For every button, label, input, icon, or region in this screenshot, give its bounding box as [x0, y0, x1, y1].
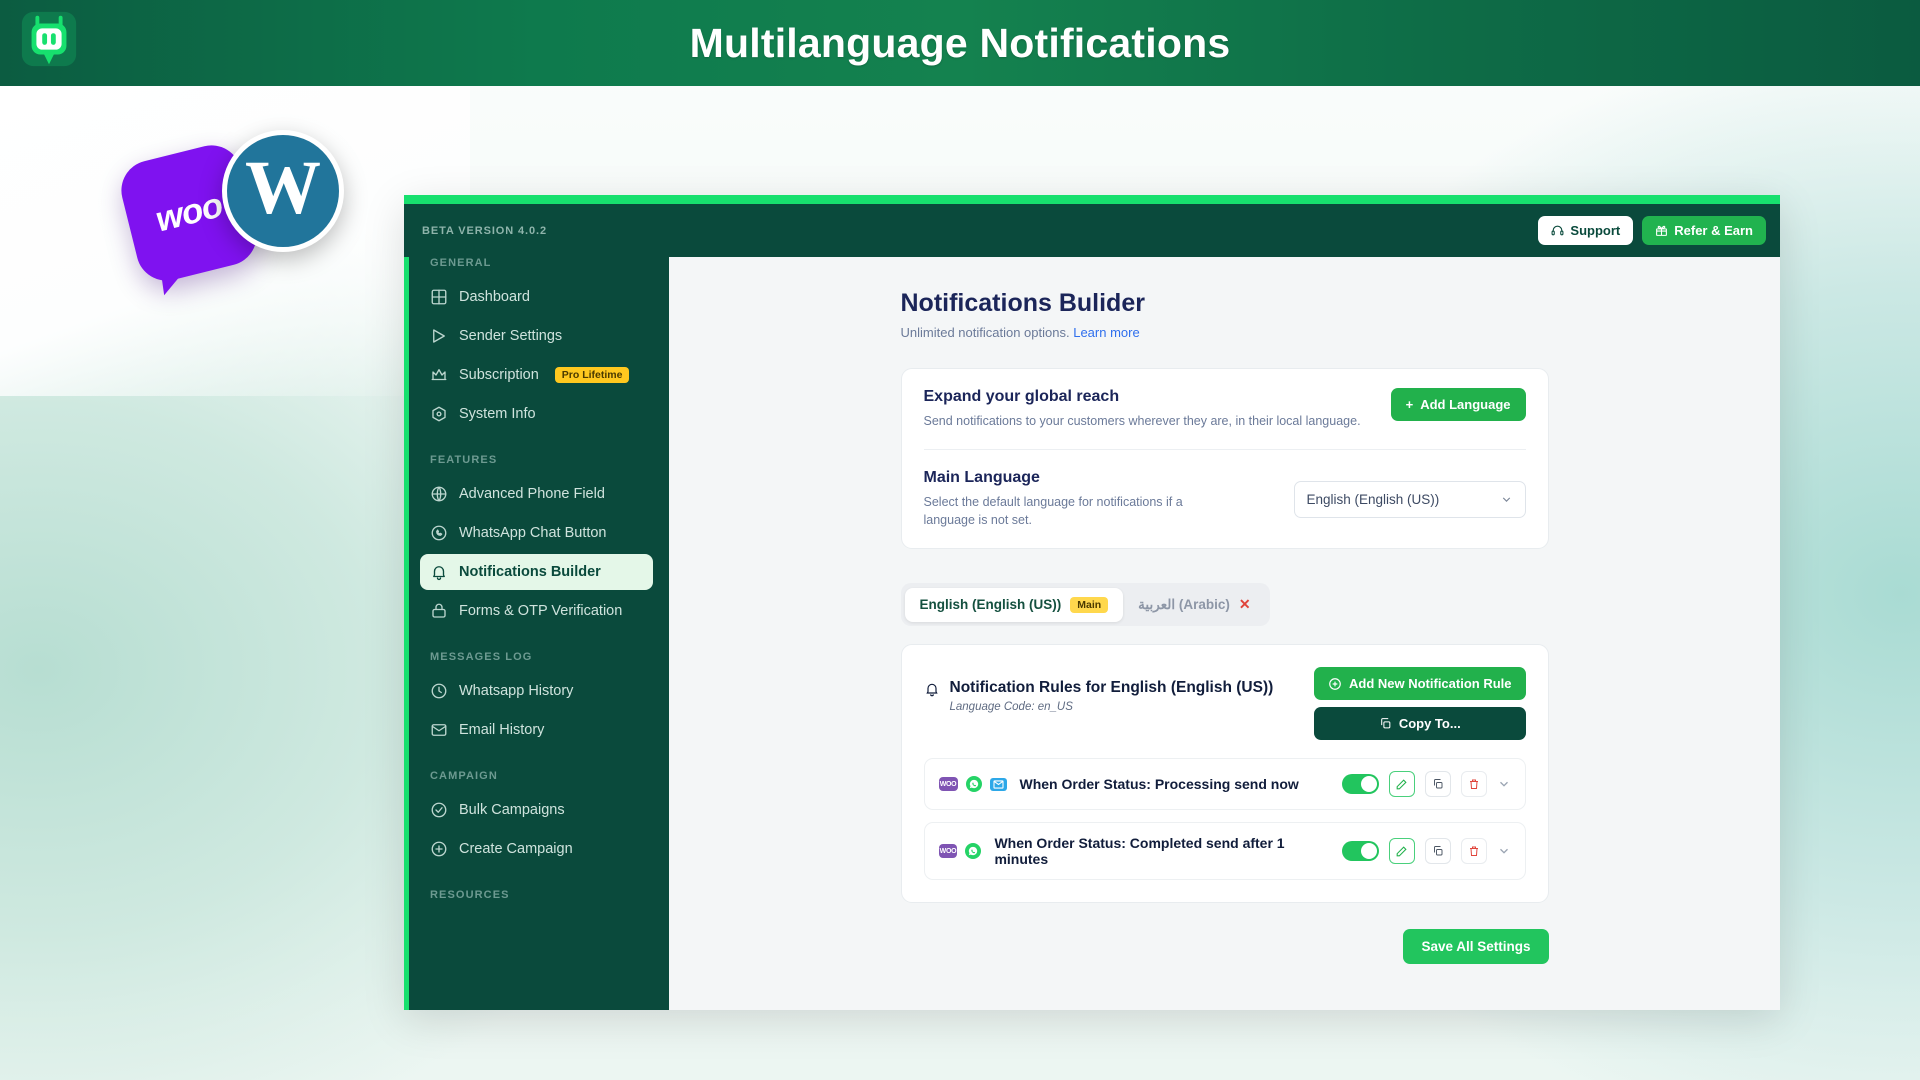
- app-window: BETA VERSION 4.0.2 Support Refer & Earn: [404, 195, 1780, 1010]
- chevron-down-icon: [1500, 493, 1513, 506]
- topbar-actions: Support Refer & Earn: [1538, 216, 1766, 245]
- main-language-heading: Main Language: [924, 469, 1224, 487]
- support-button-label: Support: [1570, 223, 1620, 238]
- global-reach-description: Send notifications to your customers whe…: [924, 412, 1361, 430]
- sidebar-item-label: Advanced Phone Field: [459, 486, 605, 502]
- sidebar: Setup Wizard GENERALDashboardSender Sett…: [404, 257, 669, 1010]
- sidebar-item-label: Dashboard: [459, 289, 530, 305]
- sidebar-item-label: Sender Settings: [459, 328, 562, 344]
- wordpress-logo-text: W: [245, 150, 321, 226]
- clock-icon: [430, 682, 448, 700]
- main-language-row: Main Language Select the default languag…: [902, 450, 1548, 548]
- rules-title: Notification Rules for English (English …: [950, 679, 1274, 697]
- woocommerce-logo-text: woo: [152, 185, 227, 240]
- global-reach-header: Expand your global reach Send notificati…: [902, 369, 1548, 449]
- main-language-select[interactable]: English (English (US)): [1294, 481, 1526, 518]
- global-reach-card: Expand your global reach Send notificati…: [901, 368, 1549, 549]
- save-section: Save All Settings: [901, 929, 1549, 964]
- sidebar-item-dashboard[interactable]: Dashboard: [420, 279, 653, 315]
- headset-icon: [1551, 224, 1564, 237]
- sidebar-section-label: RESOURCES: [430, 889, 653, 901]
- notification-rule-row[interactable]: WOOWhen Order Status: Completed send aft…: [924, 822, 1526, 880]
- expand-rule-button[interactable]: [1497, 844, 1511, 858]
- bell-icon: [430, 563, 448, 581]
- gift-icon: [1655, 224, 1668, 237]
- trash-icon: [1468, 778, 1480, 790]
- sidebar-section-label: MESSAGES LOG: [430, 651, 653, 663]
- notification-rule-row[interactable]: WOOWhen Order Status: Processing send no…: [924, 758, 1526, 810]
- main-language-selected-value: English (English (US)): [1307, 492, 1440, 507]
- sidebar-item-badge: Pro Lifetime: [555, 367, 630, 383]
- plus-circle-icon: [430, 840, 448, 858]
- envelope-icon: [430, 721, 448, 739]
- rules-actions: Add New Notification Rule Copy To...: [1314, 667, 1526, 740]
- woocommerce-channel-icon: WOO: [939, 777, 958, 791]
- email-channel-icon: [990, 778, 1007, 791]
- language-tab-label: العربية (Arabic): [1138, 597, 1230, 613]
- support-button[interactable]: Support: [1538, 216, 1633, 245]
- sidebar-item-label: Forms & OTP Verification: [459, 603, 622, 619]
- check-circle-icon: [430, 801, 448, 819]
- rule-actions: [1342, 838, 1511, 864]
- sidebar-item-system-info[interactable]: System Info: [420, 396, 653, 432]
- language-tabs: English (English (US))Mainالعربية (Arabi…: [901, 583, 1270, 626]
- whatsapp-channel-icon: [965, 843, 981, 859]
- wordpress-logo: W: [222, 130, 344, 252]
- rules-header: Notification Rules for English (English …: [902, 645, 1548, 746]
- sidebar-section-label: FEATURES: [430, 454, 653, 466]
- pencil-icon: [1395, 778, 1408, 791]
- sidebar-nav: GENERALDashboardSender SettingsSubscript…: [420, 257, 653, 901]
- rules-language-code: Language Code: en_US: [950, 701, 1274, 713]
- sidebar-item-label: Whatsapp History: [459, 683, 573, 699]
- pencil-icon: [1395, 845, 1408, 858]
- delete-rule-button[interactable]: [1461, 838, 1487, 864]
- chevron-down-icon: [1497, 844, 1511, 858]
- plus-circle-icon: [1328, 677, 1342, 691]
- rule-label: When Order Status: Completed send after …: [994, 835, 1341, 867]
- edit-rule-button[interactable]: [1389, 838, 1415, 864]
- sidebar-item-create-campaign[interactable]: Create Campaign: [420, 831, 653, 867]
- woocommerce-channel-icon: WOO: [939, 844, 958, 858]
- sidebar-item-whatsapp-history[interactable]: Whatsapp History: [420, 673, 653, 709]
- robot-logo-icon: [18, 8, 80, 70]
- copy-icon: [1379, 717, 1392, 730]
- add-language-button[interactable]: + Add Language: [1391, 388, 1526, 421]
- main-language-description: Select the default language for notifica…: [924, 493, 1224, 529]
- info-hex-icon: [430, 405, 448, 423]
- add-notification-rule-button[interactable]: Add New Notification Rule: [1314, 667, 1526, 700]
- page-root: Multilanguage Notifications BETA VERSION…: [0, 0, 1920, 1080]
- sidebar-section-label: CAMPAIGN: [430, 770, 653, 782]
- chevron-down-icon: [1497, 777, 1511, 791]
- sidebar-item-label: Create Campaign: [459, 841, 573, 857]
- copy-icon: [1432, 778, 1444, 790]
- expand-rule-button[interactable]: [1497, 777, 1511, 791]
- duplicate-rule-button[interactable]: [1425, 838, 1451, 864]
- language-tab-label: English (English (US)): [920, 597, 1062, 612]
- beta-version-label: BETA VERSION 4.0.2: [422, 225, 547, 237]
- sidebar-section-label: GENERAL: [430, 257, 653, 269]
- whatsapp-icon: [430, 524, 448, 542]
- window-accent-bar: [404, 195, 1780, 204]
- language-tab-english[interactable]: English (English (US))Main: [905, 588, 1124, 622]
- plus-icon: +: [1406, 397, 1414, 412]
- edit-rule-button[interactable]: [1389, 771, 1415, 797]
- sidebar-item-bulk-campaigns[interactable]: Bulk Campaigns: [420, 792, 653, 828]
- add-notification-rule-label: Add New Notification Rule: [1349, 676, 1512, 691]
- page-subtitle-text: Unlimited notification options.: [901, 325, 1070, 340]
- bell-icon: [924, 681, 940, 697]
- rule-enabled-toggle[interactable]: [1342, 774, 1379, 794]
- copy-to-button[interactable]: Copy To...: [1314, 707, 1526, 740]
- sidebar-item-label: Subscription: [459, 367, 539, 383]
- crown-icon: [430, 366, 448, 384]
- banner-title: Multilanguage Notifications: [690, 20, 1231, 67]
- lock-icon: [430, 602, 448, 620]
- refer-earn-button-label: Refer & Earn: [1674, 223, 1753, 238]
- rule-left: WOOWhen Order Status: Processing send no…: [939, 776, 1299, 792]
- send-icon: [430, 327, 448, 345]
- sidebar-item-sender-settings[interactable]: Sender Settings: [420, 318, 653, 354]
- sidebar-item-label: Bulk Campaigns: [459, 802, 565, 818]
- rule-left: WOOWhen Order Status: Completed send aft…: [939, 835, 1342, 867]
- rule-label: When Order Status: Processing send now: [1020, 776, 1299, 792]
- main-content: Notifications Bulider Unlimited notifica…: [669, 257, 1780, 1010]
- refer-earn-button[interactable]: Refer & Earn: [1642, 216, 1766, 245]
- sidebar-item-whatsapp-chat-button[interactable]: WhatsApp Chat Button: [420, 515, 653, 551]
- sidebar-item-label: System Info: [459, 406, 536, 422]
- global-reach-heading: Expand your global reach: [924, 388, 1361, 406]
- rule-enabled-toggle[interactable]: [1342, 841, 1379, 861]
- sidebar-item-label: WhatsApp Chat Button: [459, 525, 607, 541]
- page-title: Notifications Bulider: [901, 289, 1549, 318]
- sidebar-item-label: Email History: [459, 722, 544, 738]
- duplicate-rule-button[interactable]: [1425, 771, 1451, 797]
- notification-rule-list: WOOWhen Order Status: Processing send no…: [902, 758, 1548, 880]
- sidebar-item-label: Notifications Builder: [459, 564, 601, 580]
- language-tab-arabic[interactable]: العربية (Arabic)✕: [1123, 587, 1265, 622]
- trash-icon: [1468, 845, 1480, 857]
- delete-rule-button[interactable]: [1461, 771, 1487, 797]
- close-icon[interactable]: ✕: [1239, 596, 1251, 613]
- main-language-badge: Main: [1070, 597, 1108, 613]
- save-all-settings-button[interactable]: Save All Settings: [1403, 929, 1548, 964]
- globe-icon: [430, 485, 448, 503]
- notification-rules-card: Notification Rules for English (English …: [901, 644, 1549, 903]
- sidebar-item-email-history[interactable]: Email History: [420, 712, 653, 748]
- copy-icon: [1432, 845, 1444, 857]
- learn-more-link[interactable]: Learn more: [1073, 325, 1139, 340]
- page-banner: Multilanguage Notifications: [0, 0, 1920, 86]
- page-subtitle: Unlimited notification options. Learn mo…: [901, 325, 1549, 340]
- app-topbar: BETA VERSION 4.0.2 Support Refer & Earn: [404, 204, 1780, 257]
- copy-to-label: Copy To...: [1399, 716, 1461, 731]
- add-language-label: Add Language: [1420, 397, 1510, 412]
- rule-actions: [1342, 771, 1511, 797]
- grid-icon: [430, 288, 448, 306]
- sidebar-item-notifications-builder[interactable]: Notifications Builder: [420, 554, 653, 590]
- whatsapp-channel-icon: [966, 776, 982, 792]
- sidebar-item-subscription[interactable]: SubscriptionPro Lifetime: [420, 357, 653, 393]
- sidebar-item-forms-otp-verification[interactable]: Forms & OTP Verification: [420, 593, 653, 629]
- sidebar-item-advanced-phone-field[interactable]: Advanced Phone Field: [420, 476, 653, 512]
